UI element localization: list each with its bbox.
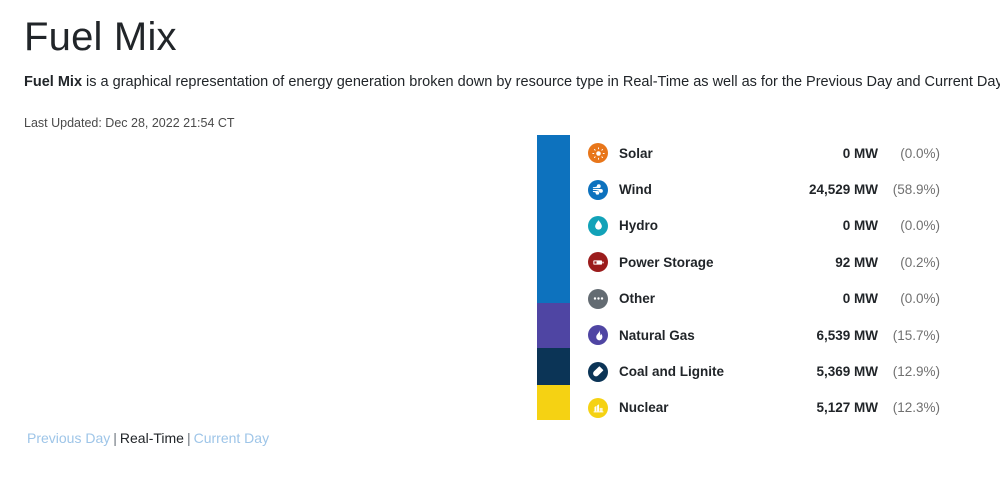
current-day-link[interactable]: Current Day	[194, 430, 269, 446]
legend-value: 92 MW	[773, 255, 878, 270]
coal-icon	[588, 362, 608, 382]
legend-label: Coal and Lignite	[619, 364, 773, 379]
legend-row[interactable]: Nuclear5,127 MW(12.3%)	[588, 390, 940, 426]
legend-label: Wind	[619, 182, 773, 197]
legend-value: 5,127 MW	[773, 400, 878, 415]
legend-row[interactable]: Natural Gas6,539 MW(15.7%)	[588, 317, 940, 353]
bar-segment-coal-and-lignite[interactable]	[537, 348, 570, 385]
legend-percent: (0.0%)	[878, 218, 940, 233]
fuel-mix-legend: Solar0 MW(0.0%)Wind24,529 MW(58.9%)Hydro…	[588, 135, 940, 426]
legend-value: 6,539 MW	[773, 328, 878, 343]
stacked-bar-chart	[537, 135, 570, 420]
sun-icon	[588, 143, 608, 163]
legend-label: Hydro	[619, 218, 773, 233]
page-title: Fuel Mix	[24, 0, 976, 60]
wind-icon	[588, 180, 608, 200]
legend-label: Power Storage	[619, 255, 773, 270]
fuel-mix-chart: Solar0 MW(0.0%)Wind24,529 MW(58.9%)Hydro…	[537, 135, 940, 426]
legend-row[interactable]: Solar0 MW(0.0%)	[588, 135, 940, 171]
legend-percent: (12.9%)	[878, 364, 940, 379]
legend-percent: (0.0%)	[878, 146, 940, 161]
legend-percent: (0.2%)	[878, 255, 940, 270]
legend-row[interactable]: Wind24,529 MW(58.9%)	[588, 171, 940, 207]
legend-label: Nuclear	[619, 400, 773, 415]
battery-icon	[588, 252, 608, 272]
flame-icon	[588, 325, 608, 345]
page-description-bold: Fuel Mix	[24, 74, 82, 90]
real-time-link-active[interactable]: Real-Time	[120, 430, 184, 446]
ellipsis-icon	[588, 289, 608, 309]
fuel-mix-page: Fuel Mix Fuel Mix is a graphical represe…	[0, 0, 1000, 482]
legend-row[interactable]: Coal and Lignite5,369 MW(12.9%)	[588, 353, 940, 389]
legend-row[interactable]: Hydro0 MW(0.0%)	[588, 208, 940, 244]
page-description: Fuel Mix is a graphical representation o…	[24, 72, 976, 93]
legend-percent: (58.9%)	[878, 182, 940, 197]
legend-label: Solar	[619, 146, 773, 161]
page-description-rest: is a graphical representation of energy …	[82, 74, 1000, 90]
view-mode-nav: Previous Day|Real-Time|Current Day	[27, 430, 269, 446]
legend-row[interactable]: Other0 MW(0.0%)	[588, 281, 940, 317]
legend-value: 0 MW	[773, 291, 878, 306]
bar-segment-nuclear[interactable]	[537, 385, 570, 420]
nav-separator-2: |	[184, 430, 194, 446]
legend-percent: (12.3%)	[878, 400, 940, 415]
legend-value: 0 MW	[773, 218, 878, 233]
legend-value: 24,529 MW	[773, 182, 878, 197]
nav-separator-1: |	[110, 430, 120, 446]
previous-day-link[interactable]: Previous Day	[27, 430, 110, 446]
legend-row[interactable]: Power Storage92 MW(0.2%)	[588, 244, 940, 280]
legend-value: 0 MW	[773, 146, 878, 161]
last-updated-timestamp: Last Updated: Dec 28, 2022 21:54 CT	[24, 116, 976, 130]
water-drop-icon	[588, 216, 608, 236]
bar-segment-wind[interactable]	[537, 135, 570, 303]
legend-percent: (0.0%)	[878, 291, 940, 306]
legend-value: 5,369 MW	[773, 364, 878, 379]
legend-label: Other	[619, 291, 773, 306]
bar-segment-natural-gas[interactable]	[537, 303, 570, 348]
legend-label: Natural Gas	[619, 328, 773, 343]
nuclear-plant-icon	[588, 398, 608, 418]
legend-percent: (15.7%)	[878, 328, 940, 343]
